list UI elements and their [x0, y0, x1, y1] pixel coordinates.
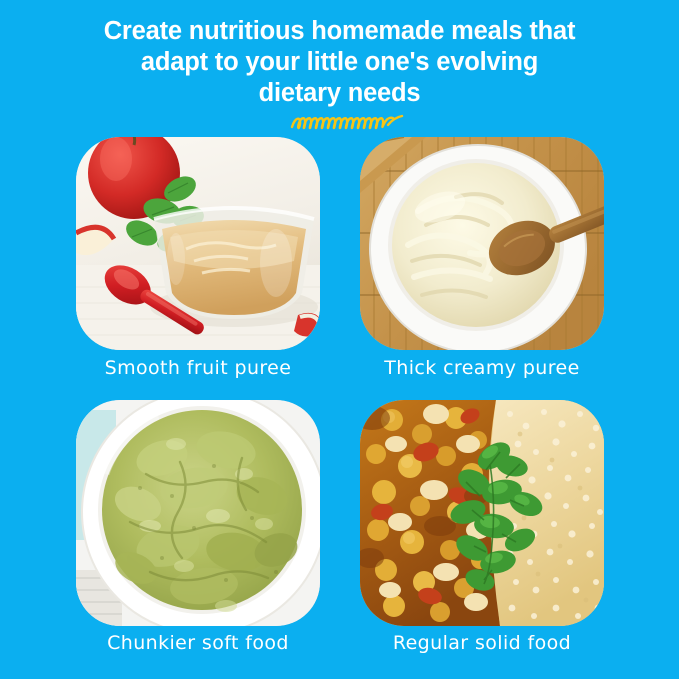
headline-line-2: adapt to your little one's evolving — [58, 47, 621, 78]
regular-solid-food-photo — [360, 400, 604, 626]
poster: Create nutritious homemade meals that ad… — [0, 0, 679, 679]
headline-line-1: Create nutritious homemade meals that — [58, 16, 621, 47]
chunkier-soft-food-photo — [76, 400, 320, 626]
tile-caption: Smooth fruit puree — [76, 357, 320, 379]
headline-line-3: dietary needs — [58, 78, 621, 109]
thick-creamy-puree-photo — [360, 137, 604, 350]
tile-caption: Chunkier soft food — [76, 632, 320, 654]
squiggle-underline-icon — [288, 112, 406, 132]
tile-caption: Regular solid food — [360, 632, 604, 654]
food-stage-item: Thick creamy puree — [360, 137, 604, 379]
food-stage-item: Smooth fruit puree — [76, 137, 320, 379]
food-stage-grid: Smooth fruit puree — [76, 137, 604, 627]
food-stage-item: Chunkier soft food — [76, 400, 320, 654]
tile-caption: Thick creamy puree — [360, 357, 604, 379]
page-title: Create nutritious homemade meals that ad… — [0, 16, 679, 109]
food-stage-item: Regular solid food — [360, 400, 604, 654]
smooth-fruit-puree-photo — [76, 137, 320, 350]
